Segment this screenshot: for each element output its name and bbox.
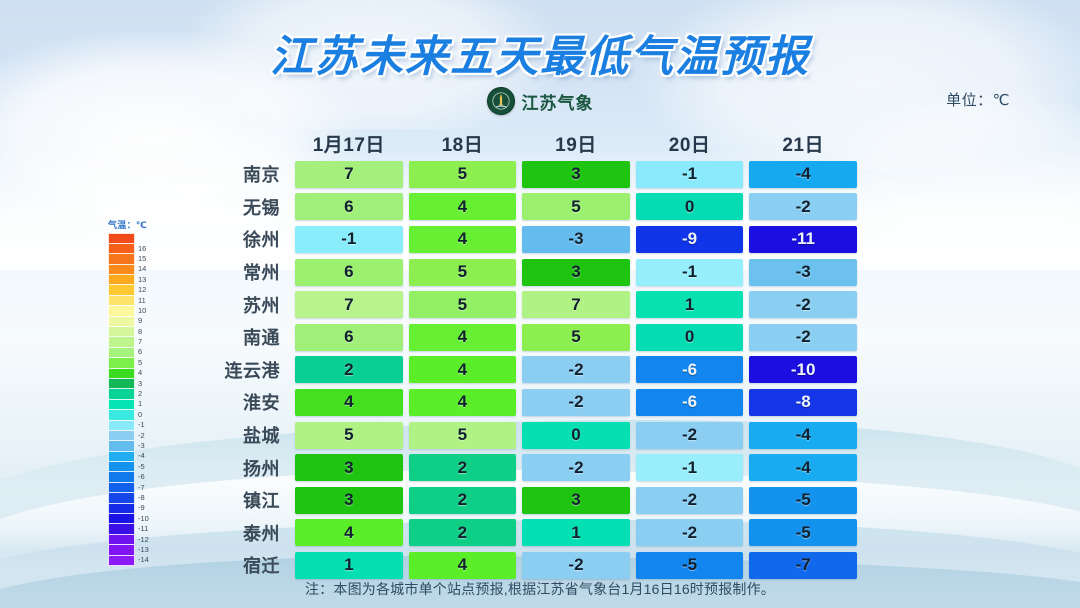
temperature-cell: 4	[409, 226, 517, 253]
temperature-cell-wrapper: -9	[633, 223, 747, 256]
temperature-cell: 3	[295, 487, 403, 514]
legend-row: -6	[108, 472, 164, 482]
temperature-cell-wrapper: -1	[633, 256, 747, 289]
temperature-cell: -4	[749, 422, 857, 449]
legend-value-label: -7	[138, 483, 145, 493]
temperature-cell: 3	[522, 259, 630, 286]
temperature-cell-wrapper: -2	[633, 517, 747, 550]
temperature-cell: 0	[636, 193, 744, 220]
legend-row: 11	[108, 295, 164, 305]
column-header-day: 21日	[746, 130, 860, 157]
table-row: 扬州32-2-1-4	[196, 451, 860, 484]
legend-value-label: 2	[138, 389, 142, 399]
temperature-cell: 6	[295, 259, 403, 286]
temperature-cell: -2	[636, 519, 744, 546]
temperature-cell-wrapper: -1	[292, 223, 406, 256]
table-row: 南京753-1-4	[196, 158, 860, 191]
row-label-city: 淮安	[196, 389, 292, 415]
legend-row: -2	[108, 430, 164, 440]
temperature-cell-wrapper: -2	[519, 451, 633, 484]
legend-value-label: -3	[138, 441, 145, 451]
legend-color-swatch	[108, 555, 135, 566]
temperature-cell: 7	[295, 161, 403, 188]
temperature-cell: -2	[749, 291, 857, 318]
column-header-day: 19日	[519, 130, 633, 157]
temperature-cell: 4	[409, 356, 517, 383]
legend-value-label: 16	[138, 244, 146, 254]
legend-row: 9	[108, 316, 164, 326]
temperature-cell: 5	[409, 259, 517, 286]
temperature-cell: 5	[409, 422, 517, 449]
column-header-day: 1月17日	[292, 130, 406, 157]
page-title: 江苏未来五天最低气温预报	[0, 22, 1080, 84]
table-row: 泰州421-2-5	[196, 517, 860, 550]
temperature-cell: 0	[636, 324, 744, 351]
row-label-city: 盐城	[196, 422, 292, 448]
temperature-cell-wrapper: 0	[633, 321, 747, 354]
temperature-cell: 3	[295, 454, 403, 481]
temperature-cell: -3	[749, 259, 857, 286]
temperature-cell-wrapper: 5	[406, 158, 520, 191]
legend-value-label: 10	[138, 306, 146, 316]
temperature-cell-wrapper: -1	[633, 158, 747, 191]
temperature-cell: -5	[749, 487, 857, 514]
temperature-cell-wrapper: 0	[519, 419, 633, 452]
temperature-cell: 1	[295, 552, 403, 579]
table-row: 连云港24-2-6-10	[196, 354, 860, 387]
temperature-cell: 4	[409, 389, 517, 416]
temperature-cell: 7	[522, 291, 630, 318]
temperature-cell-wrapper: -5	[746, 484, 860, 517]
legend-row: 6	[108, 347, 164, 357]
legend-row: -3	[108, 441, 164, 451]
row-label-city: 扬州	[196, 455, 292, 481]
temperature-cell: 4	[409, 193, 517, 220]
temperature-cell-wrapper: 0	[633, 191, 747, 224]
temperature-cell-wrapper: -5	[746, 517, 860, 550]
temperature-cell-wrapper: 5	[292, 419, 406, 452]
temperature-cell-wrapper: 2	[292, 354, 406, 387]
temperature-cell: 2	[409, 519, 517, 546]
legend-title: 气温：℃	[108, 218, 164, 231]
temperature-cell-wrapper: 5	[406, 288, 520, 321]
temperature-cell: -2	[749, 324, 857, 351]
temperature-cell: -10	[749, 356, 857, 383]
temperature-cell: -2	[636, 422, 744, 449]
temperature-cell-wrapper: 5	[519, 321, 633, 354]
table-row: 镇江323-2-5	[196, 484, 860, 517]
brand-logo: 江苏气象	[0, 86, 1080, 116]
row-label-city: 苏州	[196, 292, 292, 318]
legend-row: -12	[108, 534, 164, 544]
temperature-cell: -8	[749, 389, 857, 416]
temperature-cell: 1	[636, 291, 744, 318]
temperature-cell-wrapper: -5	[633, 549, 747, 582]
temperature-cell-wrapper: -4	[746, 158, 860, 191]
temperature-cell-wrapper: 1	[519, 517, 633, 550]
temperature-cell: 3	[522, 161, 630, 188]
temperature-cell-wrapper: -2	[519, 386, 633, 419]
temperature-cell: 6	[295, 324, 403, 351]
temperature-color-legend: 气温：℃ 161514131211109876543210-1-2-3-4-5-…	[108, 218, 164, 566]
legend-value-label: 15	[138, 254, 146, 264]
temperature-cell: -6	[636, 356, 744, 383]
temperature-cell: -2	[522, 454, 630, 481]
temperature-cell-wrapper: -1	[633, 451, 747, 484]
legend-row: 3	[108, 378, 164, 388]
temperature-cell: 3	[522, 487, 630, 514]
legend-value-label: 9	[138, 316, 142, 326]
temperature-cell: -2	[522, 356, 630, 383]
legend-value-label: -5	[138, 462, 145, 472]
legend-value-label: 5	[138, 358, 142, 368]
temperature-cell-wrapper: 1	[292, 549, 406, 582]
temperature-cell: -7	[749, 552, 857, 579]
legend-value-label: 13	[138, 275, 146, 285]
legend-row: -5	[108, 462, 164, 472]
legend-value-label: -13	[138, 545, 149, 555]
legend-value-label: 3	[138, 379, 142, 389]
temperature-cell: -1	[636, 259, 744, 286]
legend-value-label: -4	[138, 451, 145, 461]
temperature-cell: -2	[636, 487, 744, 514]
temperature-cell-wrapper: 3	[519, 256, 633, 289]
temperature-cell: 2	[409, 454, 517, 481]
column-header-day: 20日	[633, 130, 747, 157]
legend-value-label: -1	[138, 420, 145, 430]
temperature-cell: -4	[749, 161, 857, 188]
row-label-city: 南京	[196, 161, 292, 187]
temperature-cell: -5	[749, 519, 857, 546]
legend-row: 10	[108, 306, 164, 316]
table-row: 无锡6450-2	[196, 191, 860, 224]
legend-row: -14	[108, 555, 164, 565]
legend-row: 5	[108, 358, 164, 368]
temperature-cell-wrapper: -2	[746, 288, 860, 321]
temperature-cell-wrapper: -3	[746, 256, 860, 289]
temperature-cell: 5	[522, 324, 630, 351]
temperature-cell-wrapper: 5	[406, 419, 520, 452]
temperature-cell: 4	[409, 324, 517, 351]
temperature-cell: 1	[522, 519, 630, 546]
temperature-cell-wrapper: 2	[406, 517, 520, 550]
temperature-cell: -4	[749, 454, 857, 481]
temperature-cell: 5	[522, 193, 630, 220]
temperature-cell: 5	[409, 161, 517, 188]
temperature-cell-wrapper: 3	[292, 451, 406, 484]
legend-row: 15	[108, 254, 164, 264]
row-label-city: 无锡	[196, 194, 292, 220]
temperature-cell-wrapper: 7	[292, 288, 406, 321]
legend-row: -10	[108, 514, 164, 524]
legend-scale: 161514131211109876543210-1-2-3-4-5-6-7-8…	[108, 233, 164, 566]
lighthouse-emblem-icon	[487, 87, 515, 115]
temperature-cell: 5	[409, 291, 517, 318]
temperature-cell: 4	[295, 389, 403, 416]
legend-value-label: -6	[138, 472, 145, 482]
temperature-cell-wrapper: 1	[633, 288, 747, 321]
legend-row: -13	[108, 545, 164, 555]
legend-value-label: 12	[138, 285, 146, 295]
legend-row: 0	[108, 410, 164, 420]
temperature-cell-wrapper: 2	[406, 484, 520, 517]
temperature-cell-wrapper: -4	[746, 451, 860, 484]
temperature-cell: -1	[636, 454, 744, 481]
legend-value-label: 0	[138, 410, 142, 420]
temperature-cell: -2	[522, 552, 630, 579]
temperature-cell-wrapper: -2	[519, 549, 633, 582]
temperature-cell: -5	[636, 552, 744, 579]
table-row: 苏州7571-2	[196, 288, 860, 321]
legend-value-label: 14	[138, 264, 146, 274]
legend-value-label: -14	[138, 555, 149, 565]
table-column-headers: 1月17日18日19日20日21日	[196, 128, 860, 158]
temperature-cell-wrapper: -3	[519, 223, 633, 256]
temperature-cell-wrapper: 3	[292, 484, 406, 517]
temperature-cell: -11	[749, 226, 857, 253]
legend-value-label: 4	[138, 368, 142, 378]
temperature-cell-wrapper: -2	[633, 419, 747, 452]
legend-row: -9	[108, 503, 164, 513]
legend-row: 1	[108, 399, 164, 409]
temperature-cell-wrapper: 4	[406, 386, 520, 419]
temperature-cell-wrapper: 6	[292, 256, 406, 289]
legend-row: -11	[108, 524, 164, 534]
temperature-cell: -9	[636, 226, 744, 253]
row-label-city: 南通	[196, 324, 292, 350]
temperature-cell-wrapper: 4	[292, 517, 406, 550]
temperature-cell: -1	[295, 226, 403, 253]
temperature-cell: -6	[636, 389, 744, 416]
legend-row: -1	[108, 420, 164, 430]
temperature-cell: 4	[409, 552, 517, 579]
legend-row: 2	[108, 389, 164, 399]
legend-value-label: -2	[138, 431, 145, 441]
temperature-cell-wrapper: 4	[406, 549, 520, 582]
legend-value-label: 8	[138, 327, 142, 337]
unit-label: 单位：℃	[946, 89, 1010, 110]
temperature-cell-wrapper: -6	[633, 354, 747, 387]
table-body: 南京753-1-4无锡6450-2徐州-14-3-9-11常州653-1-3苏州…	[196, 158, 860, 582]
temperature-cell-wrapper: 4	[406, 223, 520, 256]
row-label-city: 泰州	[196, 520, 292, 546]
table-row: 南通6450-2	[196, 321, 860, 354]
legend-row: 13	[108, 275, 164, 285]
temperature-cell-wrapper: 4	[406, 354, 520, 387]
legend-row: 4	[108, 368, 164, 378]
temperature-cell: -2	[749, 193, 857, 220]
legend-value-label: -8	[138, 493, 145, 503]
temperature-cell-wrapper: -10	[746, 354, 860, 387]
legend-row	[108, 233, 164, 243]
temperature-cell: 0	[522, 422, 630, 449]
temperature-cell-wrapper: 7	[292, 158, 406, 191]
legend-row: 7	[108, 337, 164, 347]
legend-row: 16	[108, 243, 164, 253]
temperature-cell-wrapper: -2	[633, 484, 747, 517]
legend-row: 8	[108, 327, 164, 337]
table-row: 宿迁14-2-5-7	[196, 549, 860, 582]
row-label-city: 宿迁	[196, 552, 292, 578]
temperature-cell-wrapper: 4	[292, 386, 406, 419]
temperature-cell-wrapper: 2	[406, 451, 520, 484]
temperature-cell: -2	[522, 389, 630, 416]
legend-value-label: 7	[138, 337, 142, 347]
table-row: 淮安44-2-6-8	[196, 386, 860, 419]
temperature-cell: 6	[295, 193, 403, 220]
temperature-cell-wrapper: 6	[292, 321, 406, 354]
legend-value-label: -12	[138, 535, 149, 545]
temperature-cell-wrapper: 5	[519, 191, 633, 224]
legend-row: -7	[108, 482, 164, 492]
temperature-cell-wrapper: -7	[746, 549, 860, 582]
temperature-cell-wrapper: -6	[633, 386, 747, 419]
temperature-cell: 7	[295, 291, 403, 318]
column-header-day: 18日	[406, 130, 520, 157]
temperature-cell: -3	[522, 226, 630, 253]
temperature-cell: -1	[636, 161, 744, 188]
row-label-city: 常州	[196, 259, 292, 285]
temperature-cell-wrapper: 3	[519, 484, 633, 517]
row-label-city: 连云港	[196, 357, 292, 383]
legend-row: 12	[108, 285, 164, 295]
temperature-cell-wrapper: -2	[746, 191, 860, 224]
temperature-cell: 2	[295, 356, 403, 383]
temperature-cell-wrapper: -4	[746, 419, 860, 452]
legend-row: -4	[108, 451, 164, 461]
temperature-cell: 4	[295, 519, 403, 546]
temperature-cell: 2	[409, 487, 517, 514]
table-row: 常州653-1-3	[196, 256, 860, 289]
legend-value-label: 1	[138, 399, 142, 409]
temperature-cell-wrapper: 4	[406, 321, 520, 354]
table-row: 盐城550-2-4	[196, 419, 860, 452]
temperature-cell-wrapper: 7	[519, 288, 633, 321]
temperature-cell-wrapper: 5	[406, 256, 520, 289]
legend-row: 14	[108, 264, 164, 274]
footnote: 注：本图为各城市单个站点预报,根据江苏省气象台1月16日16时预报制作。	[0, 579, 1080, 599]
row-label-city: 镇江	[196, 487, 292, 513]
temperature-cell-wrapper: -2	[519, 354, 633, 387]
temperature-cell-wrapper: 6	[292, 191, 406, 224]
legend-value-label: -9	[138, 503, 145, 513]
legend-value-label: -10	[138, 514, 149, 524]
forecast-table: 1月17日18日19日20日21日 南京753-1-4无锡6450-2徐州-14…	[196, 128, 860, 582]
table-row: 徐州-14-3-9-11	[196, 223, 860, 256]
row-label-city: 徐州	[196, 226, 292, 252]
temperature-cell-wrapper: -2	[746, 321, 860, 354]
temperature-cell-wrapper: 3	[519, 158, 633, 191]
weather-forecast-infographic: 江苏未来五天最低气温预报 江苏气象 单位：℃ 气温：℃ 161514131211…	[0, 0, 1080, 608]
brand-name: 江苏气象	[522, 89, 594, 114]
temperature-cell-wrapper: 4	[406, 191, 520, 224]
temperature-cell-wrapper: -11	[746, 223, 860, 256]
legend-value-label: 11	[138, 296, 146, 306]
legend-row: -8	[108, 493, 164, 503]
temperature-cell: 5	[295, 422, 403, 449]
temperature-cell-wrapper: -8	[746, 386, 860, 419]
legend-value-label: -11	[138, 524, 148, 534]
legend-value-label: 6	[138, 347, 142, 357]
